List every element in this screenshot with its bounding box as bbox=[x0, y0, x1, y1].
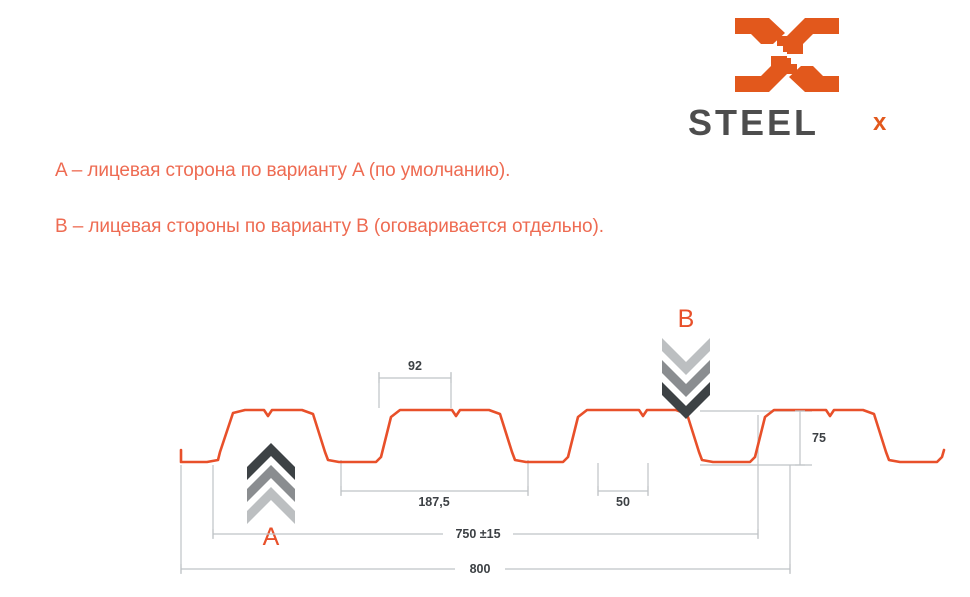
dim-92-label: 92 bbox=[408, 359, 422, 373]
wordmark-steel: STEEL bbox=[688, 104, 819, 143]
dim-800-label: 800 bbox=[470, 562, 491, 576]
dim-187-5-label: 187,5 bbox=[418, 495, 449, 509]
dim-800: 800 bbox=[181, 562, 790, 576]
marker-a-chevrons bbox=[247, 443, 295, 524]
profile-technical-drawing: A B 92 187,5 50 75 750 ±15 bbox=[0, 280, 970, 597]
dim-75-label: 75 bbox=[812, 431, 826, 445]
dim-75: 75 bbox=[795, 411, 826, 465]
dim-50: 50 bbox=[598, 486, 648, 509]
note-variant-b: B – лицевая стороны по варианту B (огова… bbox=[55, 216, 604, 238]
dim-187-5: 187,5 bbox=[341, 486, 528, 509]
logo-wordmark: STEEL x bbox=[688, 104, 920, 144]
marker-a-label: A bbox=[263, 523, 280, 551]
marker-b-label: B bbox=[678, 305, 695, 333]
dim-750-label: 750 ±15 bbox=[455, 527, 500, 541]
dim-92: 92 bbox=[379, 359, 451, 383]
dim-50-label: 50 bbox=[616, 495, 630, 509]
wordmark-superscript-x: x bbox=[873, 109, 887, 136]
profile-cross-section-path bbox=[181, 410, 944, 462]
steelx-x-mark-icon bbox=[733, 14, 841, 96]
brand-logo: STEEL x bbox=[688, 14, 920, 144]
marker-b-chevrons bbox=[662, 338, 710, 419]
note-variant-a: A – лицевая сторона по варианту A (по ум… bbox=[55, 160, 510, 182]
dim-750: 750 ±15 bbox=[213, 527, 758, 541]
